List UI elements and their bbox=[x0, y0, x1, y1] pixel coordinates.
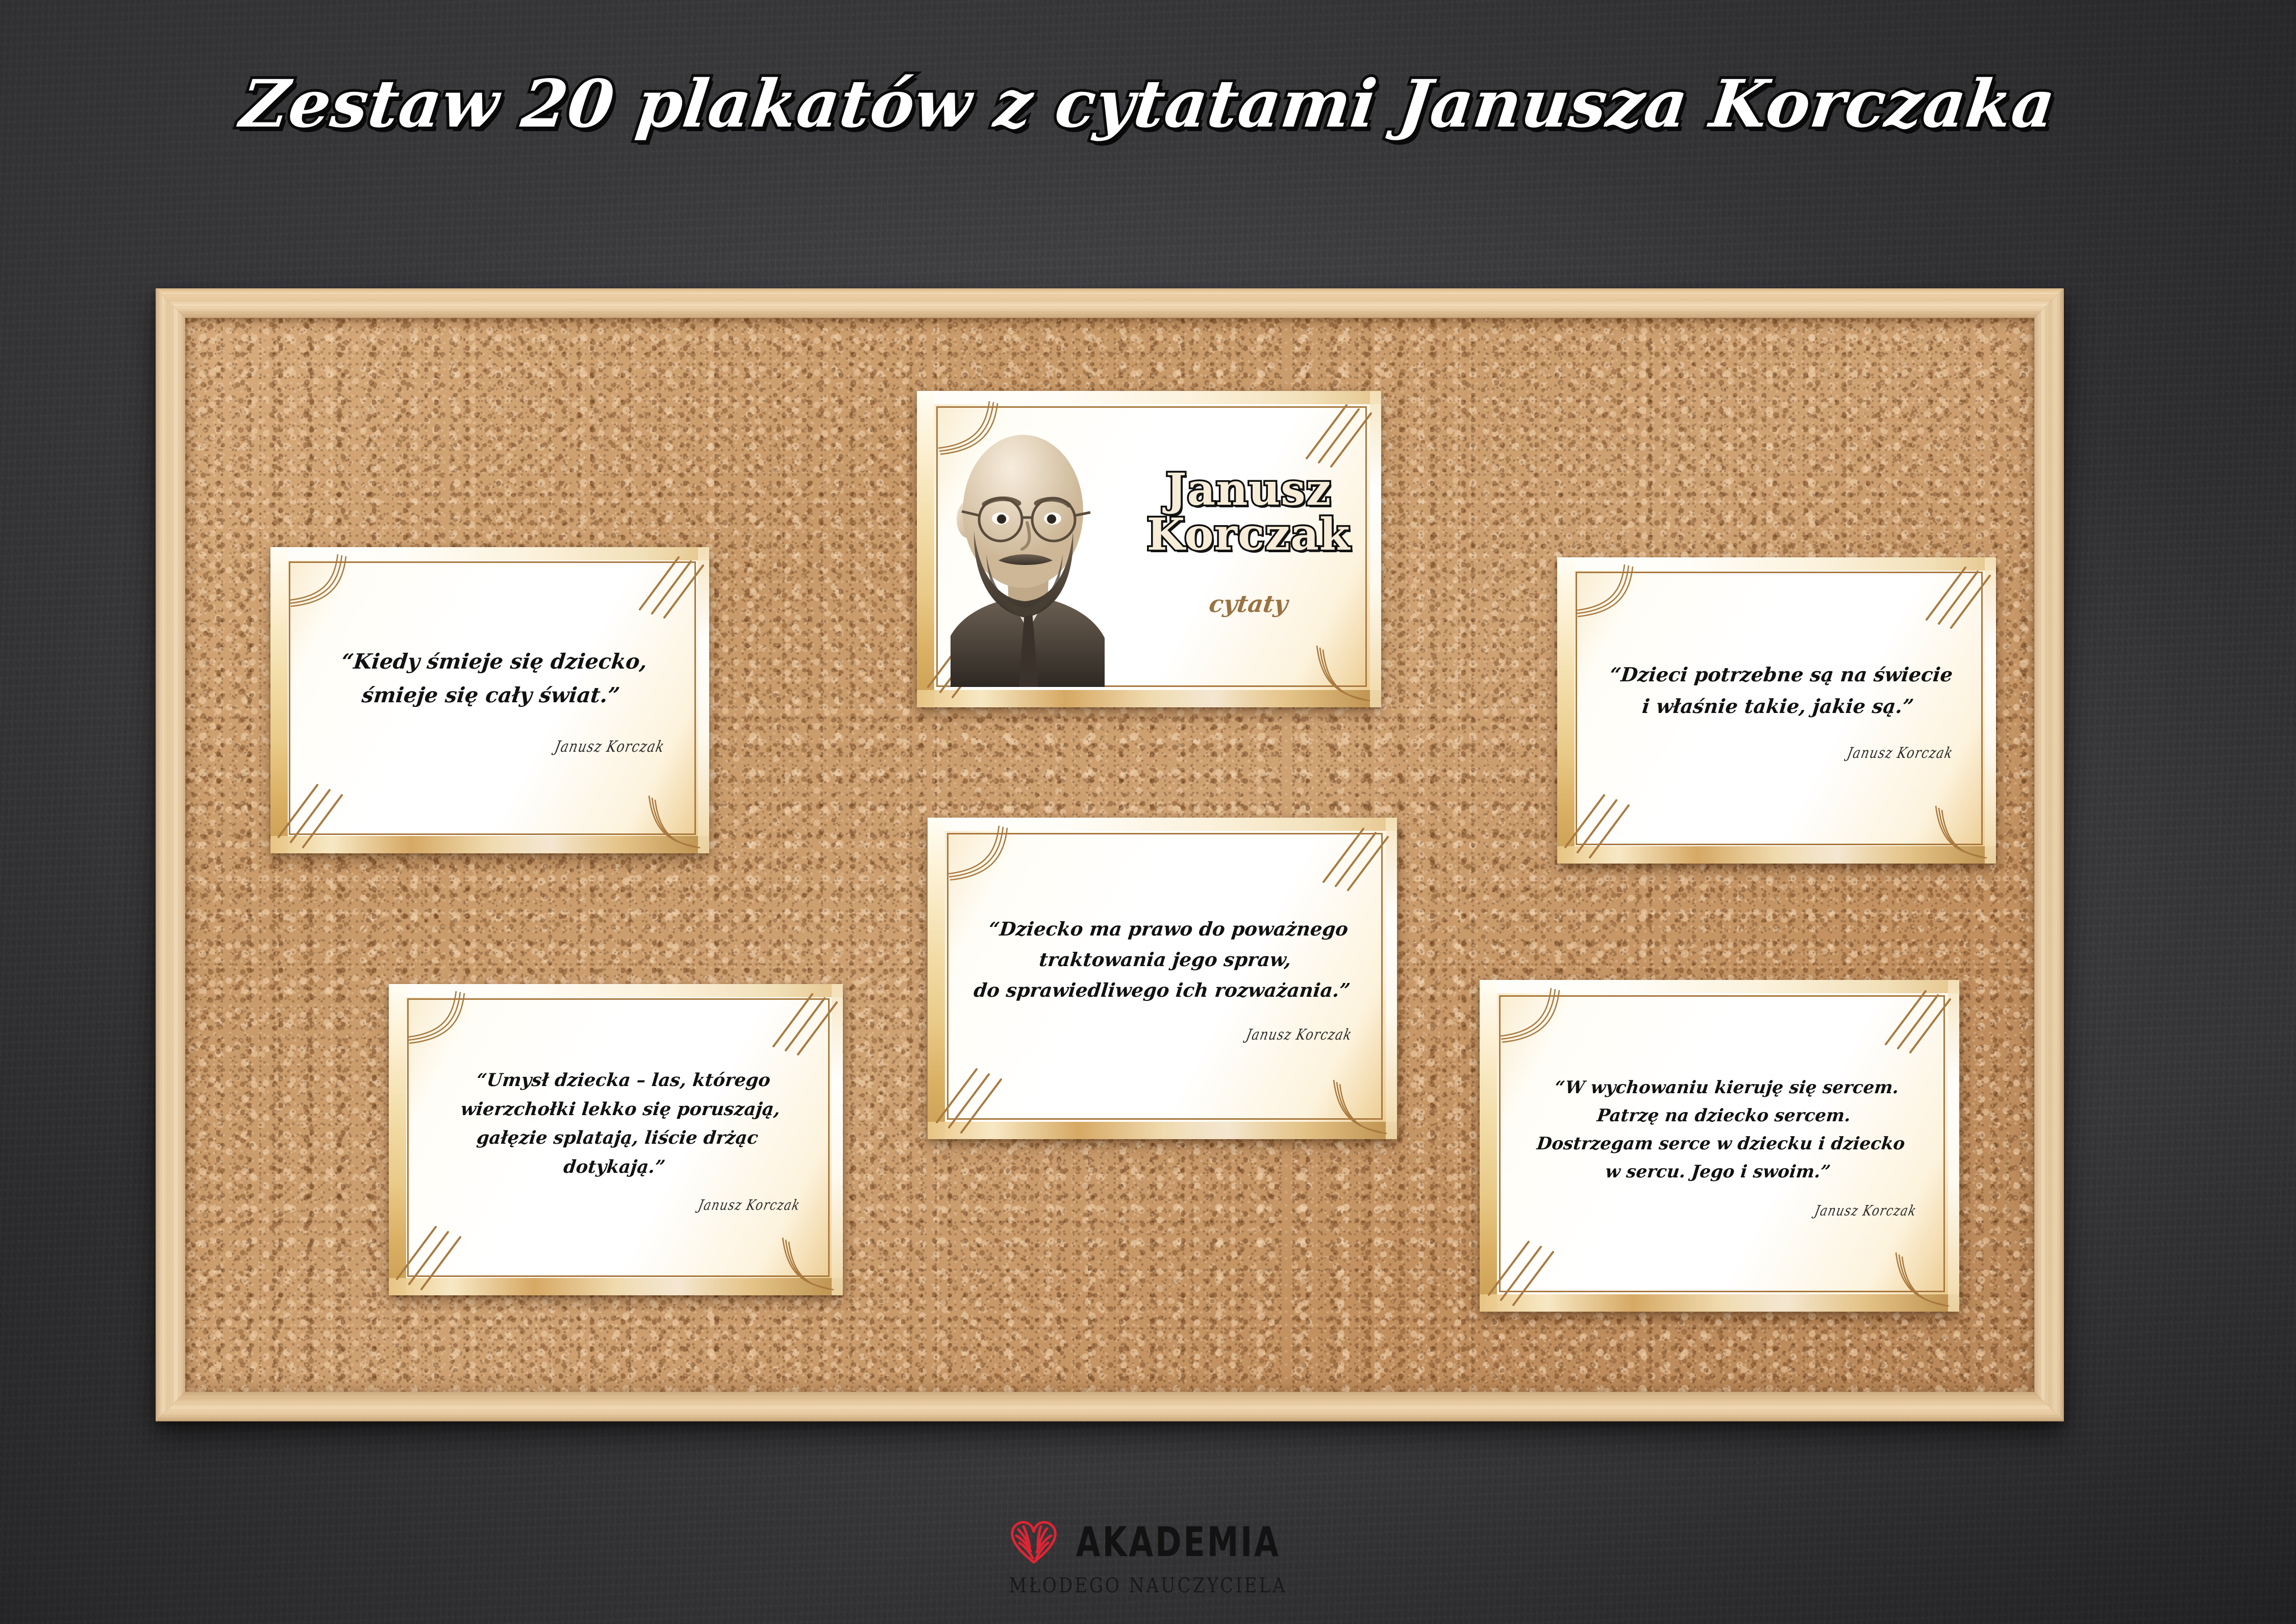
quote-text: “Dziecko ma prawo do poważnego traktowan… bbox=[972, 914, 1358, 1006]
title-card-name-line1: Janusz bbox=[1136, 467, 1361, 512]
korczak-portrait bbox=[941, 411, 1110, 687]
quote-text: “Dzieci potrzebne są na świecie i właśni… bbox=[1605, 659, 1955, 722]
foil-edge-bottom bbox=[389, 1278, 843, 1295]
heart-icon bbox=[1009, 1518, 1058, 1565]
foil-edge-top bbox=[1557, 557, 1996, 571]
footer-logo-row: AKADEMIA bbox=[1009, 1518, 1287, 1565]
foil-edge-top bbox=[270, 547, 709, 560]
foil-edge-left bbox=[917, 391, 934, 707]
foil-edge-top bbox=[389, 984, 843, 997]
foil-edge-left bbox=[1480, 980, 1497, 1312]
title-card-name-line2: Korczak bbox=[1136, 512, 1361, 557]
quote-text: “Kiedy śmieje się dziecko, śmieje się ca… bbox=[336, 645, 649, 712]
foil-edge-top bbox=[928, 818, 1397, 831]
title-card-name: Janusz Korczak bbox=[1136, 467, 1361, 557]
board-frame-right bbox=[2034, 288, 2064, 1421]
quote-poster-4[interactable]: “Umysł dziecka – las, którego wierzchołk… bbox=[389, 984, 843, 1295]
quote-poster-2[interactable]: “Dzieci potrzebne są na świecie i właśni… bbox=[1557, 557, 1996, 864]
foil-edge-right bbox=[1948, 980, 1959, 1312]
quote-signature: Janusz Korczak bbox=[553, 737, 666, 755]
footer-logo: AKADEMIA MŁODEGO NAUCZYCIELA bbox=[0, 1518, 2296, 1596]
quote-signature: Janusz Korczak bbox=[1813, 1203, 1918, 1219]
quote-text: “Umysł dziecka – las, którego wierzchołk… bbox=[453, 1066, 785, 1182]
quote-poster-5[interactable]: “W wychowaniu kieruję się sercem. Patrzę… bbox=[1480, 980, 1959, 1312]
foil-edge-right bbox=[832, 984, 843, 1295]
foil-edge-left bbox=[1557, 557, 1575, 864]
foil-edge-right bbox=[698, 547, 709, 853]
foil-edge-left bbox=[389, 984, 406, 1295]
quote-signature: Janusz Korczak bbox=[1846, 744, 1955, 761]
board-frame-left bbox=[156, 288, 185, 1421]
footer-tagline: MŁODEGO NAUCZYCIELA bbox=[1009, 1573, 1287, 1597]
quote-signature: Janusz Korczak bbox=[1245, 1026, 1354, 1043]
board-frame-top bbox=[156, 288, 2064, 318]
foil-edge-top bbox=[1480, 980, 1959, 993]
board-frame-bottom bbox=[156, 1392, 2064, 1421]
title-card-poster[interactable]: Janusz Korczak cytaty bbox=[917, 391, 1381, 707]
foil-edge-bottom bbox=[1480, 1294, 1959, 1312]
foil-edge-left bbox=[270, 547, 288, 853]
foil-edge-top bbox=[917, 391, 1381, 404]
quote-poster-3[interactable]: “Dziecko ma prawo do poważnego traktowan… bbox=[928, 818, 1397, 1139]
foil-edge-bottom bbox=[270, 836, 709, 853]
foil-edge-bottom bbox=[917, 690, 1381, 707]
quote-signature: Janusz Korczak bbox=[697, 1198, 802, 1214]
footer-brand-name: AKADEMIA bbox=[1076, 1518, 1281, 1566]
foil-edge-left bbox=[928, 818, 945, 1139]
foil-edge-right bbox=[1985, 557, 1996, 864]
quote-poster-1[interactable]: “Kiedy śmieje się dziecko, śmieje się ca… bbox=[270, 547, 709, 853]
foil-edge-bottom bbox=[928, 1122, 1397, 1139]
foil-edge-right bbox=[1386, 818, 1397, 1139]
title-card-subtitle: cytaty bbox=[1134, 590, 1363, 618]
foil-edge-bottom bbox=[1557, 846, 1996, 864]
quote-text: “W wychowaniu kieruję się sercem. Patrzę… bbox=[1533, 1074, 1912, 1186]
foil-edge-right bbox=[1370, 391, 1381, 707]
page-title: Zestaw 20 plakatów z cytatami Janusza Ko… bbox=[0, 71, 2296, 137]
